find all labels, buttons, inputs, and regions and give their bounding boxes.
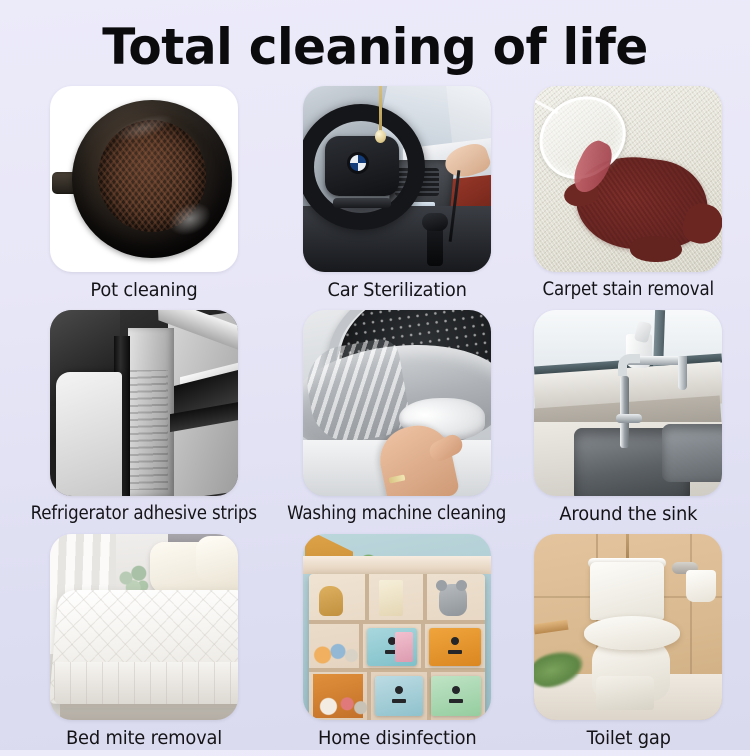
wall-pipe (626, 534, 629, 560)
caption-washing-machine: Washing machine cleaning (288, 503, 507, 524)
shelf-divider-horizontal-1 (309, 620, 485, 624)
faucet-bend (618, 354, 640, 376)
thumbnail-carpet-stain[interactable] (534, 86, 722, 272)
thumbnail-washing-machine[interactable] (303, 310, 491, 496)
thumbnail-home-disinfection[interactable] (303, 534, 491, 720)
fridge-body-panel (56, 372, 122, 496)
thumbnail-pot-cleaning[interactable] (50, 86, 238, 272)
pillow-back (196, 536, 238, 582)
shelf-divider-vertical-1 (365, 574, 369, 620)
caption-toilet-gap: Toilet gap (586, 727, 670, 749)
fridge-grime-texture (130, 370, 168, 490)
feature-grid: Pot cleaning Car Sterilization (0, 86, 750, 756)
grid-item-home-disinfection[interactable]: Home disinfection (275, 534, 518, 756)
grid-item-washing-machine[interactable]: Washing machine cleaning (275, 310, 518, 532)
grid-item-car-sterilization[interactable]: Car Sterilization (275, 86, 518, 308)
hanging-charm (379, 86, 382, 132)
mattress-side (54, 662, 238, 704)
toilet-paper-roll (686, 570, 716, 602)
thumbnail-bed-mite-removal[interactable] (50, 534, 238, 720)
pot-body-shape (72, 100, 232, 258)
grid-item-toilet-gap[interactable]: Toilet gap (525, 534, 732, 756)
stain-splatter-bottom (630, 236, 682, 262)
page-title: Total cleaning of life (11, 0, 739, 72)
caption-car-sterilization: Car Sterilization (327, 279, 466, 301)
shelf-divider-vertical-2 (423, 574, 427, 620)
storage-bin-orange (429, 628, 481, 666)
grid-item-refrigerator-strips[interactable]: Refrigerator adhesive strips (18, 310, 269, 532)
thumbnail-toilet-gap[interactable] (534, 534, 722, 720)
toilet-base (596, 676, 654, 710)
steering-wheel-spoke (333, 198, 391, 208)
shelf-divider-horizontal-2 (309, 668, 485, 672)
toilet-tank (590, 562, 664, 620)
faucet-handle (616, 414, 642, 423)
storage-bin-green (431, 676, 481, 716)
car-brand-logo-icon (347, 152, 369, 174)
caption-bed-mite-removal: Bed mite removal (66, 727, 222, 749)
toy-dinosaur (319, 586, 343, 616)
caption-home-disinfection: Home disinfection (318, 727, 476, 749)
storage-box-tall (379, 580, 403, 616)
storage-box-pink (395, 632, 413, 662)
grid-item-around-the-sink[interactable]: Around the sink (525, 310, 732, 532)
gear-shifter (427, 222, 443, 266)
caption-pot-cleaning: Pot cleaning (90, 279, 197, 301)
shelf-unit-top (303, 556, 491, 574)
caption-around-the-sink: Around the sink (559, 503, 697, 525)
toys-bottom-shelf (317, 684, 369, 716)
thumbnail-car-sterilization[interactable] (303, 86, 491, 272)
faucet-column (620, 376, 629, 448)
caption-carpet-stain: Carpet stain removal (543, 279, 714, 300)
toy-bear (439, 584, 467, 616)
grid-item-bed-mite-removal[interactable]: Bed mite removal (18, 534, 269, 756)
sink-basin-right (662, 424, 722, 482)
thumbnail-refrigerator-strips[interactable] (50, 310, 238, 496)
shelf-divider-vertical-4 (421, 624, 425, 668)
wooden-towel-bar (534, 620, 569, 635)
toilet-seat (584, 616, 680, 650)
thumbnail-around-the-sink[interactable] (534, 310, 722, 496)
toys-middle-shelf (313, 634, 361, 664)
caption-refrigerator-strips: Refrigerator adhesive strips (31, 503, 257, 524)
grid-item-pot-cleaning[interactable]: Pot cleaning (18, 86, 269, 308)
wine-glass-stem (534, 93, 558, 114)
grid-item-carpet-stain[interactable]: Carpet stain removal (525, 86, 732, 308)
storage-bin-teal (375, 676, 423, 716)
